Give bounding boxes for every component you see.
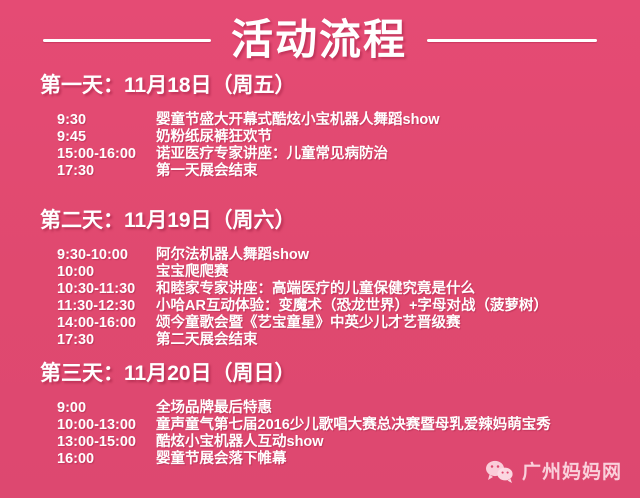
schedule-time: 9:30: [57, 112, 156, 129]
day-section-1: 第一天：11月18日（周五） 9:30 婴童节盛大开幕式酷炫小宝机器人舞蹈sho…: [0, 72, 640, 180]
schedule-time: 14:00-16:00: [57, 315, 156, 332]
schedule-list: 9:00 全场品牌最后特惠 10:00-13:00 童声童气第七届2016少儿歌…: [57, 400, 640, 468]
schedule-description: 诺亚医疗专家讲座：儿童常见病防治: [156, 146, 388, 163]
schedule-time: 10:00-13:00: [57, 417, 156, 434]
schedule-time: 10:00: [57, 264, 156, 281]
schedule-row: 17:30 第二天展会结束: [57, 332, 640, 349]
schedule-time: 10:30-11:30: [57, 281, 156, 298]
schedule-row: 10:30-11:30 和睦家专家讲座：高端医疗的儿童保健究竟是什么: [57, 281, 640, 298]
schedule-list: 9:30 婴童节盛大开幕式酷炫小宝机器人舞蹈show 9:45 奶粉纸尿裤狂欢节…: [57, 112, 640, 180]
day-section-2: 第二天：11月19日（周六） 9:30-10:00 阿尔法机器人舞蹈show 1…: [0, 207, 640, 349]
schedule-description: 和睦家专家讲座：高端医疗的儿童保健究竟是什么: [156, 281, 475, 298]
poster-title-row: 活动流程: [0, 14, 640, 66]
schedule-time: 9:00: [57, 400, 156, 417]
schedule-row: 9:30-10:00 阿尔法机器人舞蹈show: [57, 247, 640, 264]
schedule-row: 9:45 奶粉纸尿裤狂欢节: [57, 129, 640, 146]
schedule-time: 17:30: [57, 163, 156, 180]
schedule-row: 10:00 宝宝爬爬赛: [57, 264, 640, 281]
schedule-description: 童声童气第七届2016少儿歌唱大赛总决赛暨母乳爱辣妈萌宝秀: [156, 417, 551, 434]
schedule-time: 11:30-12:30: [57, 298, 156, 315]
wechat-icon: [485, 459, 515, 485]
page-title: 活动流程: [231, 19, 407, 61]
title-rule-left-icon: [43, 39, 211, 42]
event-schedule-poster: 活动流程 第一天：11月18日（周五） 9:30 婴童节盛大开幕式酷炫小宝机器人…: [0, 0, 640, 498]
schedule-time: 15:00-16:00: [57, 146, 156, 163]
schedule-description: 婴童节盛大开幕式酷炫小宝机器人舞蹈show: [156, 112, 440, 129]
schedule-description: 酷炫小宝机器人互动show: [156, 434, 324, 451]
schedule-list: 9:30-10:00 阿尔法机器人舞蹈show 10:00 宝宝爬爬赛 10:3…: [57, 247, 640, 349]
schedule-time: 17:30: [57, 332, 156, 349]
schedule-row: 15:00-16:00 诺亚医疗专家讲座：儿童常见病防治: [57, 146, 640, 163]
schedule-row: 17:30 第一天展会结束: [57, 163, 640, 180]
schedule-row: 14:00-16:00 颂今童歌会暨《艺宝童星》中英少儿才艺晋级赛: [57, 315, 640, 332]
schedule-description: 婴童节展会落下帷幕: [156, 451, 287, 468]
schedule-row: 11:30-12:30 小哈AR互动体验：变魔术（恐龙世界）+字母对战（菠萝树）: [57, 298, 640, 315]
day-heading: 第三天：11月20日（周日）: [40, 360, 640, 388]
day-heading: 第二天：11月19日（周六）: [40, 207, 640, 235]
schedule-row: 13:00-15:00 酷炫小宝机器人互动show: [57, 434, 640, 451]
schedule-time: 9:45: [57, 129, 156, 146]
schedule-description: 奶粉纸尿裤狂欢节: [156, 129, 272, 146]
schedule-description: 全场品牌最后特惠: [156, 400, 272, 417]
schedule-time: 9:30-10:00: [57, 247, 156, 264]
watermark: 广州妈妈网: [485, 459, 622, 485]
schedule-description: 第二天展会结束: [156, 332, 258, 349]
day-heading: 第一天：11月18日（周五）: [40, 72, 640, 100]
schedule-time: 13:00-15:00: [57, 434, 156, 451]
title-rule-right-icon: [427, 39, 597, 42]
schedule-description: 阿尔法机器人舞蹈show: [156, 247, 309, 264]
schedule-row: 9:00 全场品牌最后特惠: [57, 400, 640, 417]
schedule-description: 第一天展会结束: [156, 163, 258, 180]
schedule-description: 颂今童歌会暨《艺宝童星》中英少儿才艺晋级赛: [156, 315, 461, 332]
schedule-time: 16:00: [57, 451, 156, 468]
watermark-label: 广州妈妈网: [522, 463, 622, 482]
day-section-3: 第三天：11月20日（周日） 9:00 全场品牌最后特惠 10:00-13:00…: [0, 360, 640, 468]
schedule-row: 10:00-13:00 童声童气第七届2016少儿歌唱大赛总决赛暨母乳爱辣妈萌宝…: [57, 417, 640, 434]
schedule-row: 9:30 婴童节盛大开幕式酷炫小宝机器人舞蹈show: [57, 112, 640, 129]
schedule-description: 宝宝爬爬赛: [156, 264, 229, 281]
schedule-description: 小哈AR互动体验：变魔术（恐龙世界）+字母对战（菠萝树）: [156, 298, 548, 315]
